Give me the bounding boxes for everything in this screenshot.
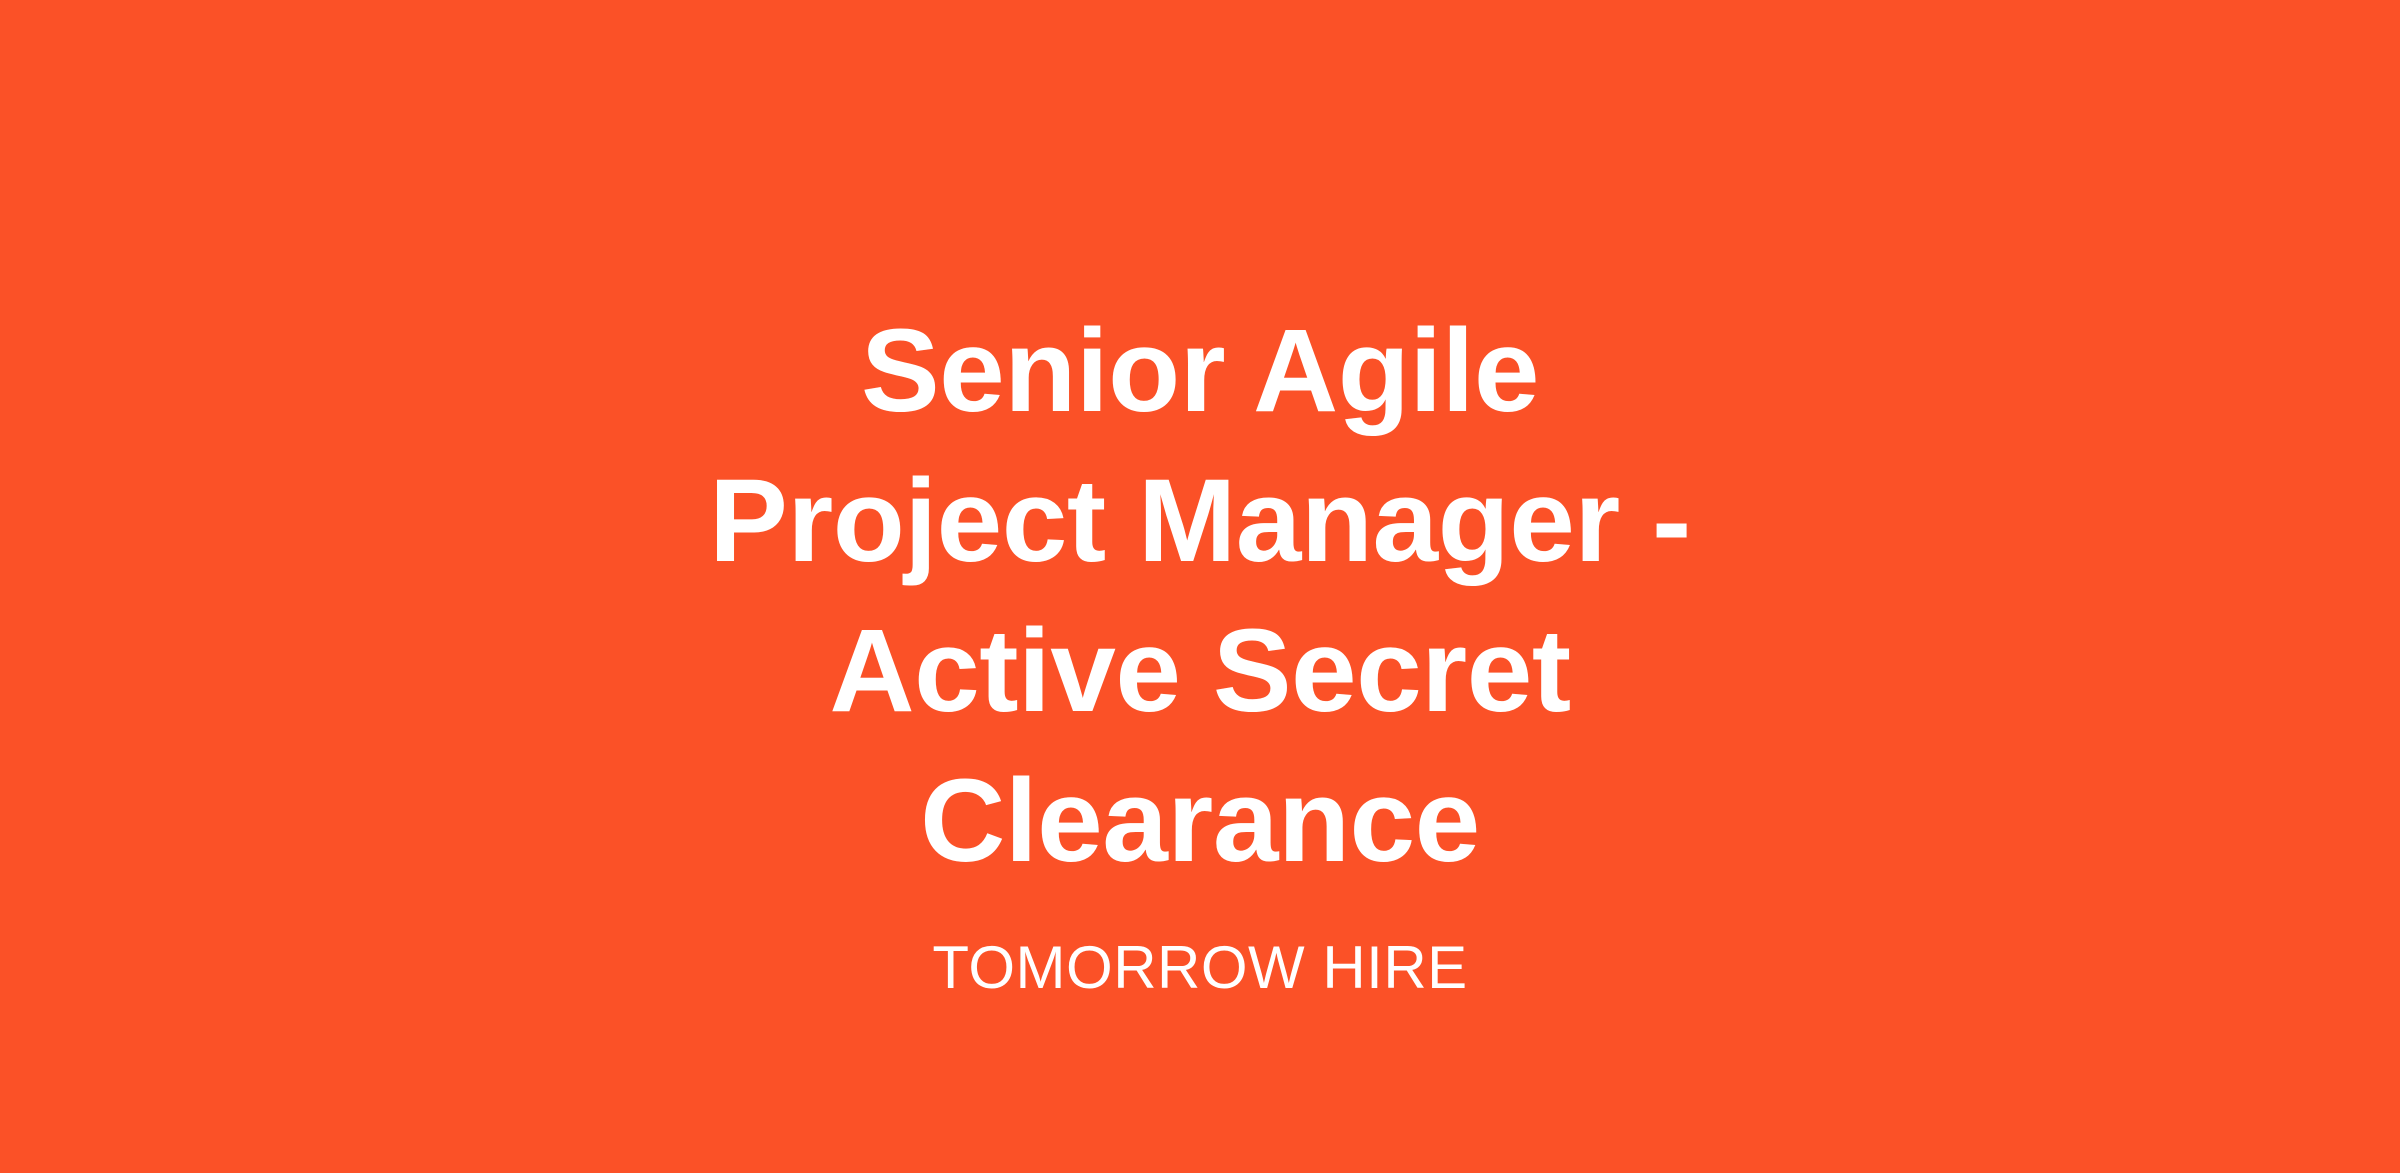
page-title: Senior Agile Project Manager - Active Se… — [700, 296, 1700, 896]
company-name: TOMORROW HIRE — [700, 934, 1700, 1002]
poster-text-block: Senior Agile Project Manager - Active Se… — [700, 296, 1700, 1002]
job-posting-poster: Senior Agile Project Manager - Active Se… — [0, 0, 2400, 1173]
